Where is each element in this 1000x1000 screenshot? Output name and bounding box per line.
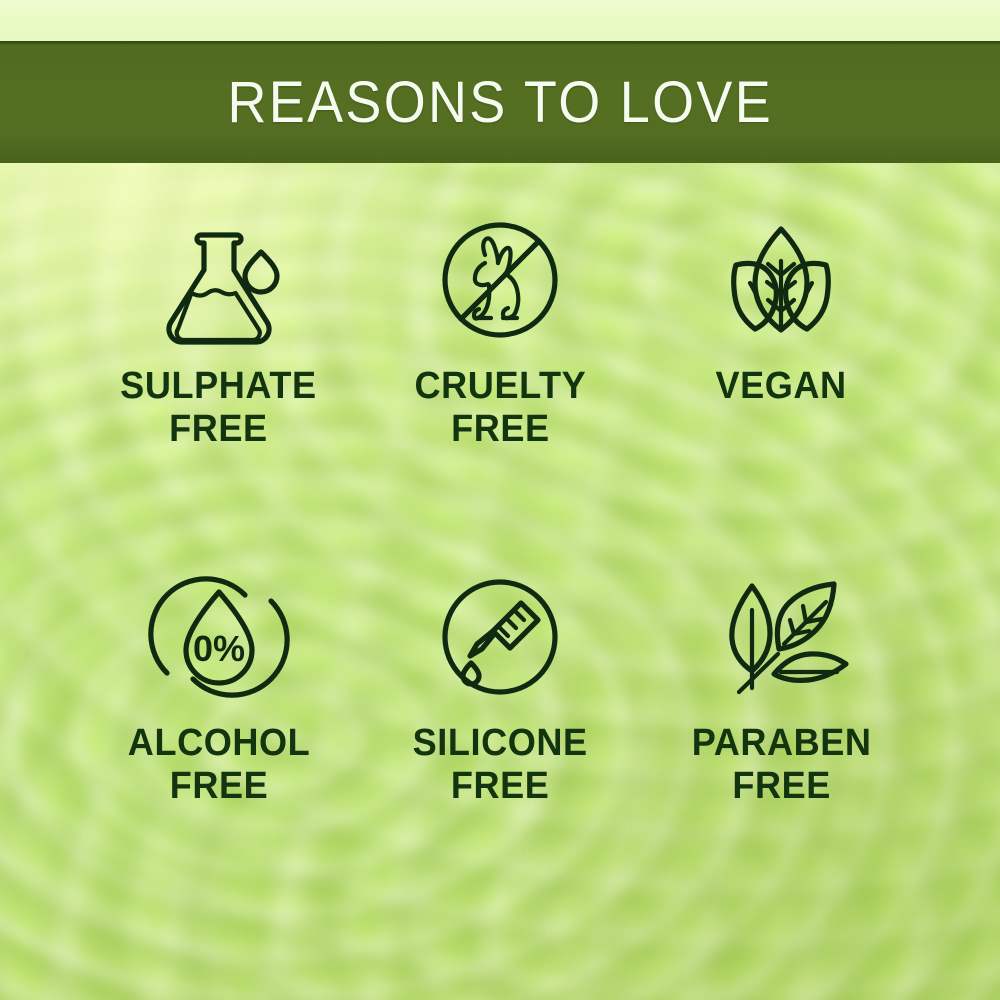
- badge-cruelty-free: CRUELTY FREE: [359, 191, 640, 548]
- dropper-circle-icon: [425, 562, 575, 712]
- no-animal-icon: [425, 205, 575, 355]
- badge-label-line1: ALCOHOL: [127, 722, 309, 764]
- badge-vegan: VEGAN: [641, 191, 922, 548]
- page-title: REASONS TO LOVE: [227, 69, 772, 136]
- leaf-sprig-icon: [706, 562, 856, 712]
- badge-label: SILICONE FREE: [412, 722, 587, 809]
- badge-label: SULPHATE FREE: [120, 365, 316, 452]
- badge-silicone-free: SILICONE FREE: [359, 548, 640, 905]
- badge-label-line1: PARABEN: [691, 722, 871, 764]
- badge-label-line2: FREE: [127, 765, 309, 808]
- badge-label-line1: SILICONE: [412, 722, 587, 764]
- badge-label: PARABEN FREE: [691, 722, 871, 809]
- badge-label-line2: FREE: [691, 765, 871, 808]
- poster-stage: REASONS TO LOVE SULPHATE FREE: [0, 0, 1000, 1000]
- badge-label: VEGAN: [716, 365, 847, 408]
- badge-label-line2: FREE: [412, 765, 587, 808]
- badge-label-line1: CRUELTY: [414, 365, 586, 407]
- flask-droplet-icon: [144, 205, 294, 355]
- badge-label: ALCOHOL FREE: [127, 722, 309, 809]
- badge-label-line1: VEGAN: [716, 365, 847, 407]
- no-droplet-zero-percent-icon: 0%: [144, 562, 294, 712]
- badge-label-line1: SULPHATE: [120, 365, 316, 407]
- three-leaves-icon: [706, 205, 856, 355]
- badge-paraben-free: PARABEN FREE: [641, 548, 922, 905]
- zero-percent-text: 0%: [193, 628, 245, 669]
- header-banner: REASONS TO LOVE: [0, 41, 1000, 163]
- top-strip: [0, 0, 1000, 41]
- badge-alcohol-free: 0% ALCOHOL FREE: [78, 548, 359, 905]
- badge-grid: SULPHATE FREE CRUELTY: [0, 163, 1000, 1000]
- badge-label-line2: FREE: [414, 408, 586, 451]
- badge-label-line2: FREE: [120, 408, 316, 451]
- badge-label: CRUELTY FREE: [414, 365, 586, 452]
- badge-sulphate-free: SULPHATE FREE: [78, 191, 359, 548]
